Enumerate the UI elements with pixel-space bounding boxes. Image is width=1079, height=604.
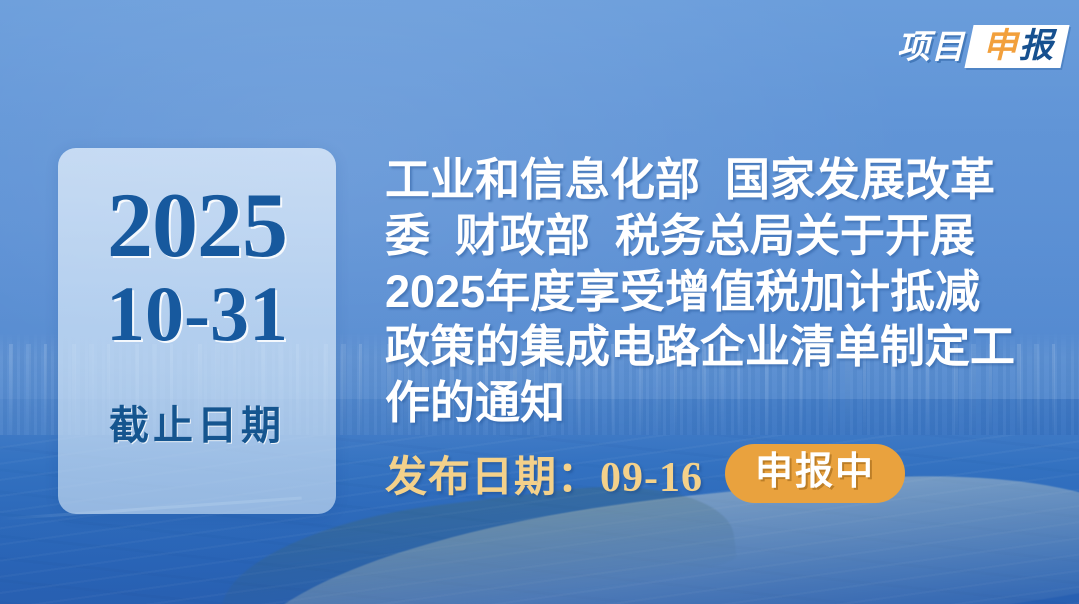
notice-meta-row: 发布日期：09-16 申报中 xyxy=(385,443,1025,504)
brand-logo-plate-inner: 申 报 xyxy=(983,29,1053,63)
brand-logo[interactable]: 项目 申 报 xyxy=(897,20,1065,72)
deadline-card: 2025 10-31 截止日期 xyxy=(58,148,336,514)
brand-logo-plate: 申 报 xyxy=(964,25,1069,68)
brand-logo-tail-text: 报 xyxy=(1019,29,1053,63)
deadline-year: 2025 xyxy=(107,182,287,269)
deadline-label: 截止日期 xyxy=(109,393,285,451)
notice-content: 工业和信息化部 国家发展改革委 财政部 税务总局关于开展2025年度享受增值税加… xyxy=(385,152,1025,504)
brand-logo-lead-text: 项目 xyxy=(897,30,965,63)
project-declaration-banner: 项目 申 报 2025 10-31 截止日期 工业和信息化部 国家发展改革委 财… xyxy=(0,0,1079,604)
deadline-month-day: 10-31 xyxy=(106,275,288,353)
notice-title[interactable]: 工业和信息化部 国家发展改革委 财政部 税务总局关于开展2025年度享受增值税加… xyxy=(385,152,1025,431)
publish-date-text: 发布日期：09-16 xyxy=(385,443,703,504)
brand-logo-accent-text: 申 xyxy=(983,29,1017,63)
status-badge[interactable]: 申报中 xyxy=(725,444,905,503)
